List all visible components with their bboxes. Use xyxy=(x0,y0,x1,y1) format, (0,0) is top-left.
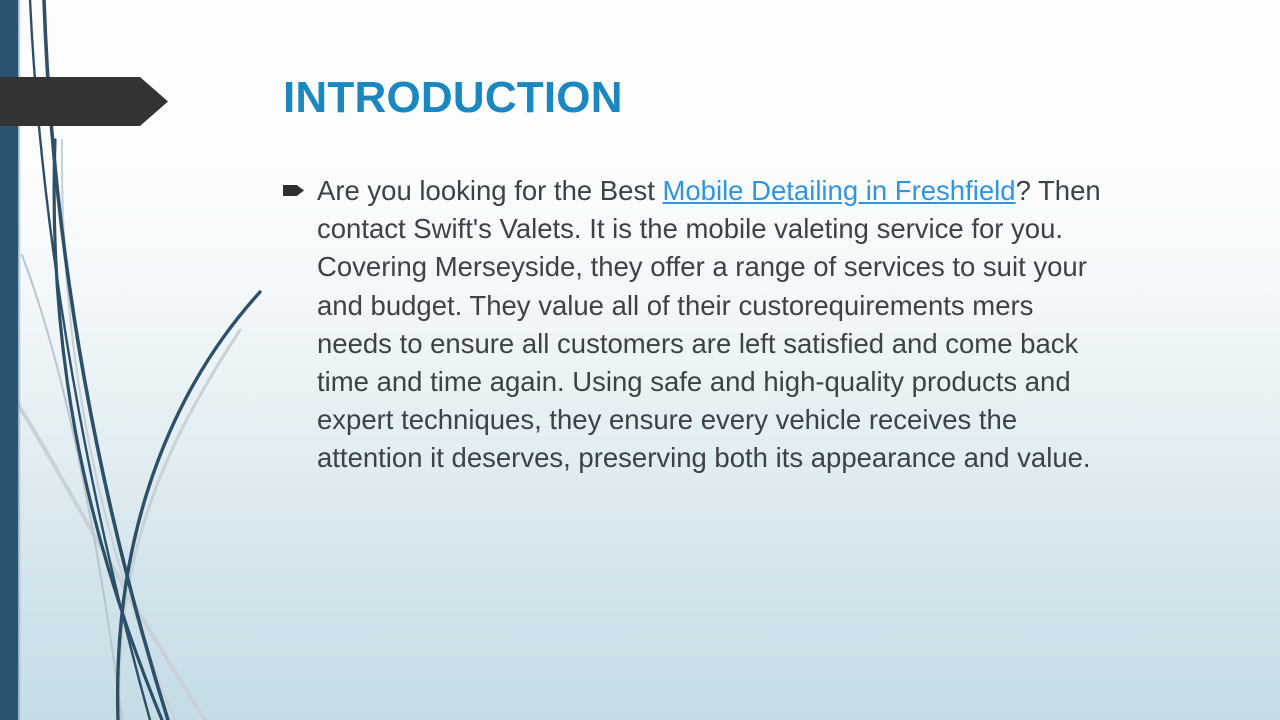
bullet-text-rest: ? Then contact Swift's Valets. It is the… xyxy=(317,175,1101,473)
title-banner-pennant-icon xyxy=(0,74,170,129)
page-title: INTRODUCTION xyxy=(283,73,623,123)
list-item: Are you looking for the Best Mobile Deta… xyxy=(283,172,1103,478)
bullet-paragraph: Are you looking for the Best Mobile Deta… xyxy=(317,172,1103,478)
presentation-slide: INTRODUCTION Are you looking for the Bes… xyxy=(0,0,1280,720)
bullet-text-lead: Are you looking for the Best xyxy=(317,175,662,206)
mobile-detailing-link[interactable]: Mobile Detailing in Freshfield xyxy=(662,175,1015,206)
slide-body: Are you looking for the Best Mobile Deta… xyxy=(283,172,1103,478)
pennant-arrow-bullet-icon xyxy=(283,172,317,202)
